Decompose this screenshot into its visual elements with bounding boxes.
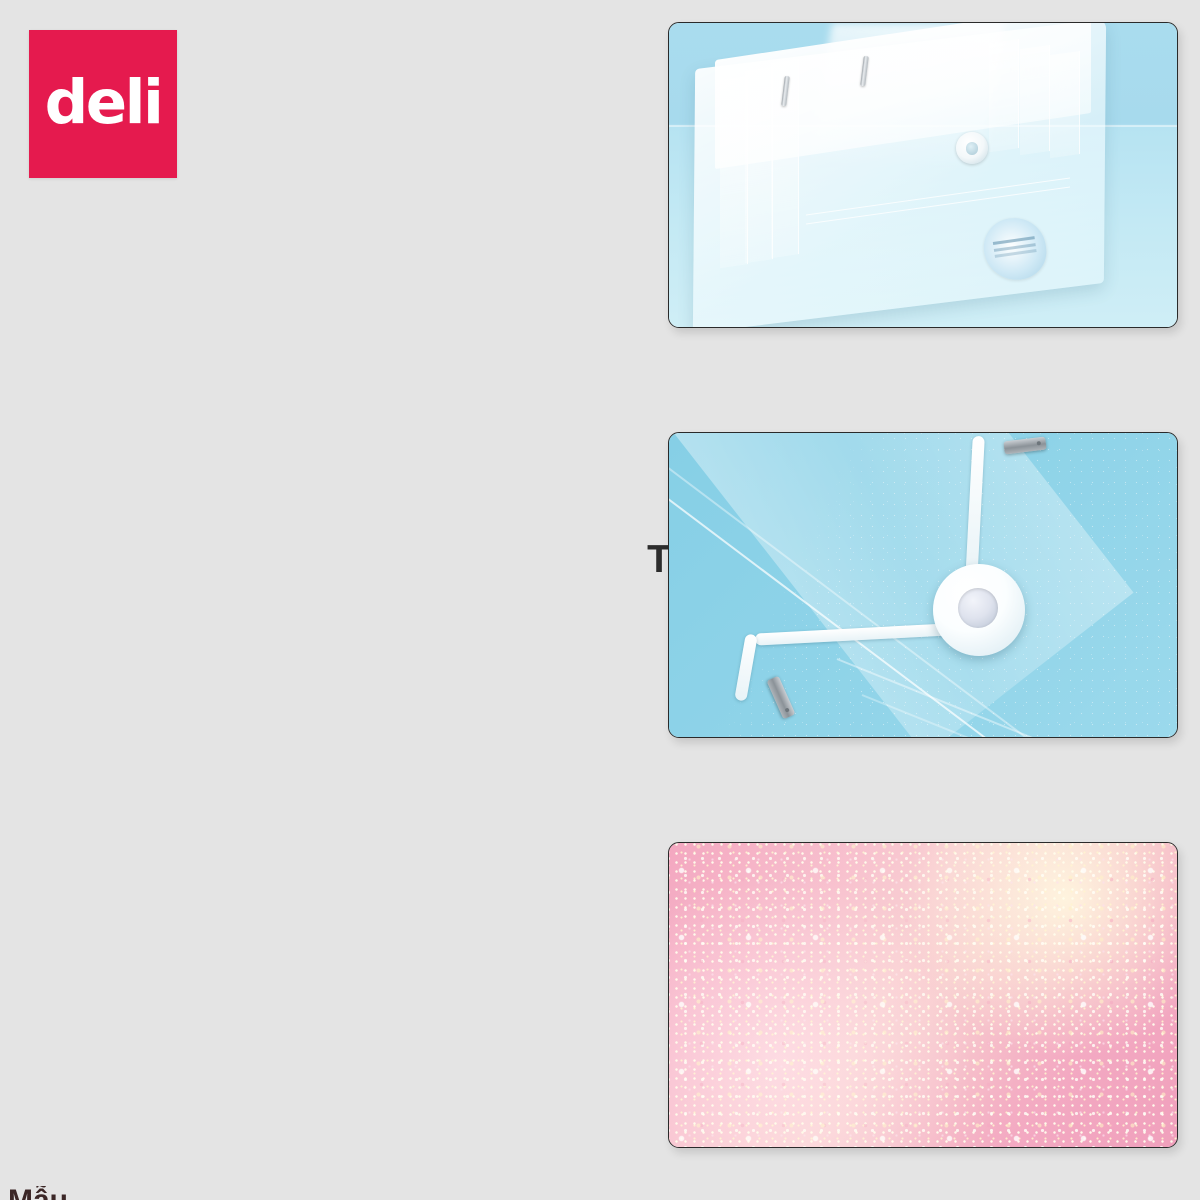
folder-pleat [1050,51,1080,159]
feature-block-glitter-powder: BỘT MỊN LẤP LÁNH Công nghệ mới đẹp long … [0,842,1200,1148]
feature-block-lock-design: THIẾT KẾ KHÓA DĨA NHỰA Khóa di động, giữ… [0,432,1200,738]
glitter-sheen [669,843,1177,1147]
photo-disc-lock [669,433,1177,737]
feature-image-card-lock-design [668,432,1178,738]
feature-block-material: VẬT LIỆU PP Bền, tốt, chất liệu dẻo dai [0,22,1200,328]
folder-pleat [989,39,1019,153]
feature-image-card-material [668,22,1178,328]
photo-pink-glitter [669,843,1177,1147]
feature-image-card-glitter-powder [668,842,1178,1148]
photo-pp-folder [669,23,1177,327]
bottom-cutoff-text-fragment: Mẫu [8,1186,68,1200]
plastic-disc-lock-icon [933,564,1025,656]
folder-pleat [1020,45,1050,156]
